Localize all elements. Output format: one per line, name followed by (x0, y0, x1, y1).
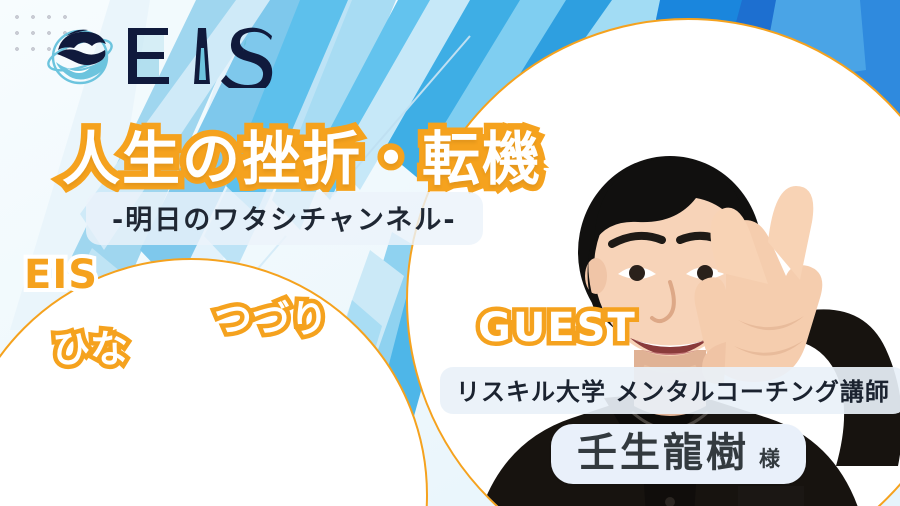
thumbnail-canvas: 人生の挫折・転機 -明日のワタシチャンネル- EIS ひな つづり GUEST … (0, 0, 900, 506)
guest-role: リスキル大学 メンタルコーチング講師 (440, 367, 900, 414)
globe-emblem-icon (44, 24, 116, 86)
host-name-hina: ひな (52, 318, 128, 373)
brand-logo (44, 22, 300, 88)
brand-wordmark (122, 22, 300, 88)
page-subtitle: -明日のワタシチャンネル- (86, 192, 483, 245)
page-title: 人生の挫折・転機 (62, 112, 542, 196)
hosts-group-label: EIS (24, 252, 98, 298)
guest-badge: GUEST (478, 305, 637, 351)
host-name-tsuzuri: つづり (214, 288, 328, 343)
guest-name: 壬生龍樹 (577, 432, 749, 474)
guest-honorific: 様 (759, 443, 780, 473)
guest-name-box: 壬生龍樹 様 (551, 424, 806, 484)
